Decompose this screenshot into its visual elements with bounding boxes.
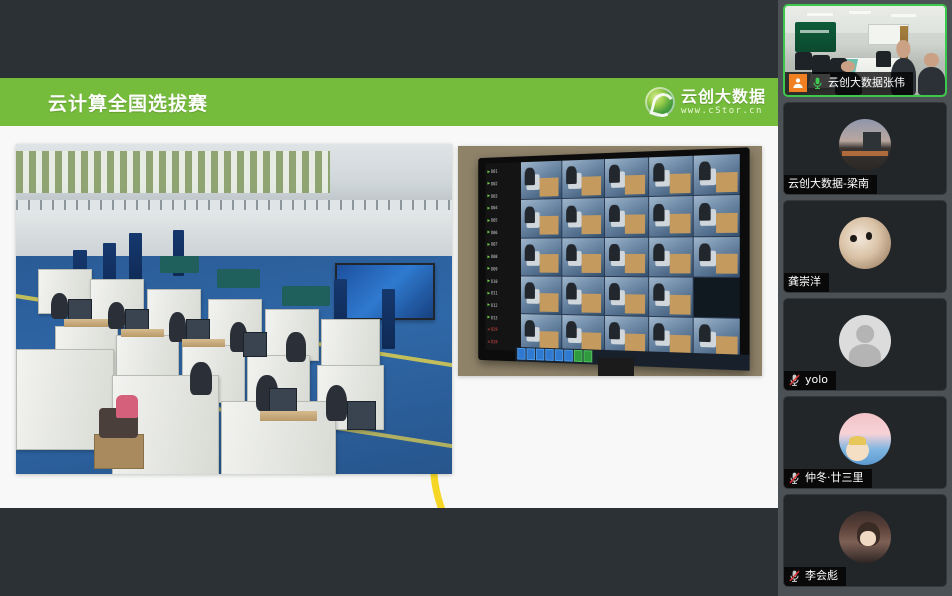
microphone-muted-icon[interactable] [788, 373, 801, 387]
camera-offline-icon: ✕ [488, 339, 491, 345]
cctv-camera-list: ▶D01▶D02▶D03▶D04▶D05▶D06▶D07▶D08▶D09▶D10… [486, 162, 521, 350]
cctv-person-silhouette [609, 283, 620, 301]
cctv-camera-cell[interactable] [694, 236, 740, 276]
person-head [841, 61, 855, 72]
avatar [839, 217, 891, 269]
hall-banner-stand [382, 289, 395, 348]
cctv-camera-cell[interactable] [605, 277, 648, 316]
avatar [839, 315, 891, 367]
hall-monitor [186, 319, 210, 341]
cctv-camera-cell[interactable] [605, 158, 648, 198]
cctv-monitor-wall-photo: ▶D01▶D02▶D03▶D04▶D05▶D06▶D07▶D08▶D09▶D10… [458, 146, 762, 376]
hall-participant [169, 312, 186, 342]
cctv-camera-label: D02 [491, 181, 498, 186]
cctv-camera-label: D29 [491, 327, 498, 332]
participant-label: 李会彪 [784, 567, 846, 586]
avatar [839, 511, 891, 563]
cctv-toolbar-button [545, 349, 554, 361]
cctv-camera-label: D09 [491, 266, 498, 271]
cctv-person-silhouette [653, 203, 664, 221]
hall-cardboard-box [94, 434, 144, 469]
camera-online-icon: ▶ [488, 205, 491, 211]
hall-section-sign [217, 269, 261, 287]
cctv-person-silhouette [609, 165, 620, 183]
slide-body: ▶D01▶D02▶D03▶D04▶D05▶D06▶D07▶D08▶D09▶D10… [0, 126, 778, 508]
hall-monitor [125, 309, 149, 331]
cctv-camera-row[interactable]: ▶D02 [486, 177, 521, 190]
cctv-camera-grid [521, 154, 740, 358]
meeting-screen-share-window: 云计算全国选拔赛 云创大数据 www.cStor.cn [0, 0, 952, 596]
camera-online-icon: ▶ [488, 290, 491, 296]
cctv-camera-cell[interactable] [649, 156, 693, 196]
competition-hall-photo [16, 144, 452, 474]
cctv-person-silhouette [699, 324, 711, 342]
participant-name: yolo [805, 373, 828, 387]
cctv-person-silhouette [566, 205, 577, 222]
cctv-camera-row[interactable]: ▶D06 [486, 226, 521, 239]
cctv-camera-label: D03 [491, 193, 498, 198]
hall-banner-stand [129, 233, 141, 283]
participant-tile[interactable]: 云创大数据-梁南 [783, 102, 947, 195]
hall-desk [121, 329, 165, 337]
hall-pink-bag [116, 395, 138, 418]
hall-section-sign [282, 286, 330, 306]
cctv-camera-row[interactable]: ▶D04 [486, 201, 521, 214]
cctv-camera-cell[interactable] [521, 199, 561, 237]
cctv-camera-row[interactable]: ▶D10 [486, 275, 521, 288]
cctv-toolbar-button [555, 349, 564, 361]
cctv-camera-cell[interactable] [562, 198, 604, 236]
hall-monitor [347, 401, 375, 429]
cctv-camera-row[interactable]: ▶D03 [486, 189, 521, 202]
hall-desk [64, 319, 108, 327]
hall-participant [108, 302, 125, 328]
cctv-person-silhouette [609, 244, 620, 262]
cctv-toolbar-button [574, 350, 583, 363]
camera-online-icon: ▶ [488, 193, 491, 199]
participant-label: 仲冬·廿三里 [784, 469, 872, 488]
cctv-toolbar-button [584, 350, 593, 363]
brand-logo-text: 云创大数据 www.cStor.cn [681, 89, 766, 116]
cctv-person-silhouette [566, 282, 577, 299]
cctv-display-stand [598, 358, 634, 376]
camera-online-icon: ▶ [488, 266, 491, 272]
cctv-person-silhouette [525, 168, 535, 185]
cctv-person-silhouette [525, 244, 535, 261]
cctv-person-silhouette [699, 243, 711, 261]
participant-label: 云创大数据张伟 [785, 72, 913, 95]
cctv-camera-label: D04 [491, 205, 498, 210]
participant-tile[interactable]: 云创大数据张伟 [783, 4, 947, 97]
cctv-camera-cell[interactable] [605, 237, 648, 276]
camera-online-icon: ▶ [488, 242, 491, 248]
hall-monitor [243, 332, 267, 357]
camera-offline-icon: ✕ [488, 327, 491, 333]
person-head [924, 53, 938, 66]
hall-participant [286, 332, 306, 362]
cctv-camera-row[interactable]: ▶D08 [486, 250, 521, 262]
cctv-camera-cell[interactable] [521, 238, 561, 275]
participant-tile[interactable]: 龚崇洋 [783, 200, 947, 293]
cctv-toolbar-button [564, 349, 573, 361]
office-chair [876, 51, 890, 67]
cctv-display-screen: ▶D01▶D02▶D03▶D04▶D05▶D06▶D07▶D08▶D09▶D10… [486, 154, 741, 358]
participant-label: 龚崇洋 [784, 273, 829, 292]
cctv-camera-row[interactable]: ▶D09 [486, 263, 521, 275]
camera-online-icon: ▶ [488, 217, 491, 223]
participant-name: 云创大数据张伟 [828, 76, 905, 90]
cctv-person-silhouette [609, 204, 620, 222]
cctv-camera-cell[interactable] [649, 277, 693, 317]
cctv-display-bezel: ▶D01▶D02▶D03▶D04▶D05▶D06▶D07▶D08▶D09▶D10… [478, 147, 749, 370]
cctv-camera-row[interactable]: ▶D07 [486, 238, 521, 250]
cctv-camera-cell[interactable] [605, 197, 648, 236]
seated-person [918, 67, 945, 95]
camera-online-icon: ▶ [488, 314, 491, 320]
cctv-toolbar-button [527, 348, 535, 360]
office-chair [812, 55, 830, 74]
camera-online-icon: ▶ [488, 302, 491, 308]
microphone-muted-icon[interactable] [788, 471, 801, 485]
ceiling-light [807, 13, 833, 16]
cctv-camera-label: D12 [491, 303, 498, 308]
slide-banner: 云计算全国选拔赛 云创大数据 www.cStor.cn [0, 78, 778, 126]
cctv-camera-row[interactable]: ▶D01 [486, 164, 521, 177]
cctv-camera-label: D10 [491, 279, 498, 284]
cctv-camera-label: D11 [491, 291, 498, 296]
microphone-muted-icon[interactable] [788, 569, 801, 583]
cctv-camera-label: D13 [491, 315, 498, 320]
cctv-camera-label: D01 [491, 169, 498, 174]
cctv-toolbar-button [536, 348, 544, 360]
avatar [839, 119, 891, 171]
participant-tile[interactable]: yolo [783, 298, 947, 391]
ceiling-light [891, 14, 917, 17]
hall-participant [190, 362, 212, 395]
camera-online-icon: ▶ [488, 181, 491, 187]
cctv-camera-cell[interactable] [521, 161, 561, 199]
hall-participant [51, 293, 68, 319]
cctv-camera-row[interactable]: ✕D29 [486, 323, 521, 336]
cctv-person-silhouette [699, 202, 711, 220]
green-signage-wall [795, 22, 837, 52]
camera-online-icon: ▶ [488, 169, 491, 175]
participant-name: 仲冬·廿三里 [805, 471, 864, 485]
brand-logo: 云创大数据 www.cStor.cn [645, 87, 766, 117]
cctv-camera-label: D07 [491, 242, 498, 247]
cctv-person-silhouette [699, 162, 711, 181]
cctv-camera-label: D06 [491, 230, 498, 235]
cctv-camera-cell[interactable] [694, 195, 740, 235]
hall-participant [326, 385, 348, 421]
cctv-camera-cell[interactable] [694, 154, 740, 195]
cctv-person-silhouette [609, 322, 620, 340]
cctv-person-silhouette [653, 323, 664, 341]
brand-url: www.cStor.cn [681, 107, 766, 116]
participant-name: 李会彪 [805, 569, 838, 583]
cctv-camera-cell[interactable] [562, 159, 604, 198]
participant-name: 龚崇洋 [788, 275, 821, 289]
participant-filmstrip[interactable]: 云创大数据张伟云创大数据-梁南龚崇洋yolo仲冬·廿三里李会彪 [778, 0, 952, 596]
camera-online-icon: ▶ [488, 278, 491, 284]
hall-railing [16, 200, 452, 210]
avatar [839, 413, 891, 465]
brand-name: 云创大数据 [681, 89, 766, 105]
slide-banner-title: 云计算全国选拔赛 [48, 89, 208, 116]
cctv-person-silhouette [566, 166, 577, 184]
cctv-person-silhouette [525, 320, 535, 337]
hall-desk [260, 411, 317, 421]
cctv-camera-row[interactable]: ▶D13 [486, 311, 521, 324]
camera-online-icon: ▶ [488, 229, 491, 235]
cctv-camera-cell[interactable] [649, 237, 693, 276]
cctv-camera-row[interactable]: ▶D05 [486, 214, 521, 227]
cctv-person-silhouette [653, 243, 664, 261]
hall-desk [182, 339, 226, 347]
cctv-person-silhouette [525, 282, 535, 299]
cctv-person-silhouette [525, 206, 535, 223]
camera-online-icon: ▶ [488, 254, 491, 260]
hall-windows [16, 151, 330, 194]
cctv-camera-cell[interactable] [562, 238, 604, 276]
cctv-toolbar-button [517, 348, 525, 360]
cctv-person-silhouette [566, 244, 577, 261]
cstor-swirl-icon [645, 87, 675, 117]
microphone-icon[interactable] [811, 76, 824, 90]
cctv-camera-row[interactable]: ▶D11 [486, 287, 521, 300]
participant-tile[interactable]: 仲冬·廿三里 [783, 396, 947, 489]
shared-content-stage: 云计算全国选拔赛 云创大数据 www.cStor.cn [0, 0, 778, 596]
participant-label: 云创大数据-梁南 [784, 175, 877, 194]
cctv-person-silhouette [653, 163, 664, 181]
participant-name: 云创大数据-梁南 [788, 177, 869, 191]
cctv-camera-label: D08 [491, 254, 498, 259]
cctv-camera-label: D05 [491, 218, 498, 223]
hall-section-sign [160, 256, 199, 273]
host-person-icon [789, 74, 807, 92]
ceiling-light [849, 11, 871, 14]
cctv-camera-cell[interactable] [562, 276, 604, 314]
cctv-camera-cell[interactable] [649, 196, 693, 236]
cctv-person-silhouette [653, 283, 664, 301]
office-chair [795, 52, 813, 70]
hall-monitor [68, 299, 92, 321]
cctv-camera-cell[interactable] [521, 276, 561, 314]
cctv-camera-cell[interactable] [694, 277, 740, 317]
cctv-person-silhouette [566, 321, 577, 339]
cctv-camera-row[interactable]: ▶D12 [486, 299, 521, 312]
participant-tile[interactable]: 李会彪 [783, 494, 947, 587]
participant-label: yolo [784, 371, 836, 390]
cctv-camera-label: D28 [491, 339, 498, 344]
